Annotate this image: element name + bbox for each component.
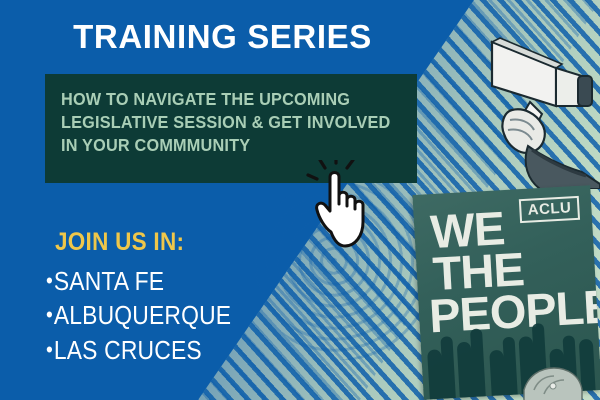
city-list-item-albuquerque: •ALBUQUERQUE: [46, 298, 231, 332]
description-line-1: HOW TO NAVIGATE THE UPCOMING: [61, 88, 377, 111]
city-list-item-las-cruces: •LAS CRUCES: [46, 333, 231, 367]
description-line-2: LEGISLATIVE SESSION & GET INVOLVED: [61, 111, 377, 134]
aclu-logo-badge: ACLU: [519, 196, 580, 223]
poster-canvas: LEGISLATIVE ADVOCACY TRAINING SERIES HOW…: [0, 0, 600, 400]
city-name: SANTA FE: [54, 266, 164, 296]
city-name: ALBUQUERQUE: [54, 300, 231, 330]
bullet-icon: •: [46, 268, 53, 293]
bullet-icon: •: [46, 337, 53, 362]
aclu-protest-sign: ACLU WE THE PEOPLE: [414, 184, 600, 400]
city-list: •SANTA FE •ALBUQUERQUE •LAS CRUCES: [46, 264, 257, 367]
bullet-icon: •: [46, 302, 53, 327]
cursor-svg: [305, 160, 385, 255]
megaphone-icon: [470, 14, 600, 189]
holding-hand-icon: [522, 360, 584, 400]
pointing-hand-cursor-icon: [305, 160, 385, 255]
join-us-title: JOIN US IN:: [55, 228, 184, 257]
description-line-3: IN YOUR COMMMUNITY: [61, 134, 377, 157]
city-name: LAS CRUCES: [54, 335, 202, 365]
headline-main: TRAINING SERIES: [0, 18, 445, 56]
city-list-item-santa-fe: •SANTA FE: [46, 264, 231, 298]
megaphone-svg: [470, 14, 600, 189]
